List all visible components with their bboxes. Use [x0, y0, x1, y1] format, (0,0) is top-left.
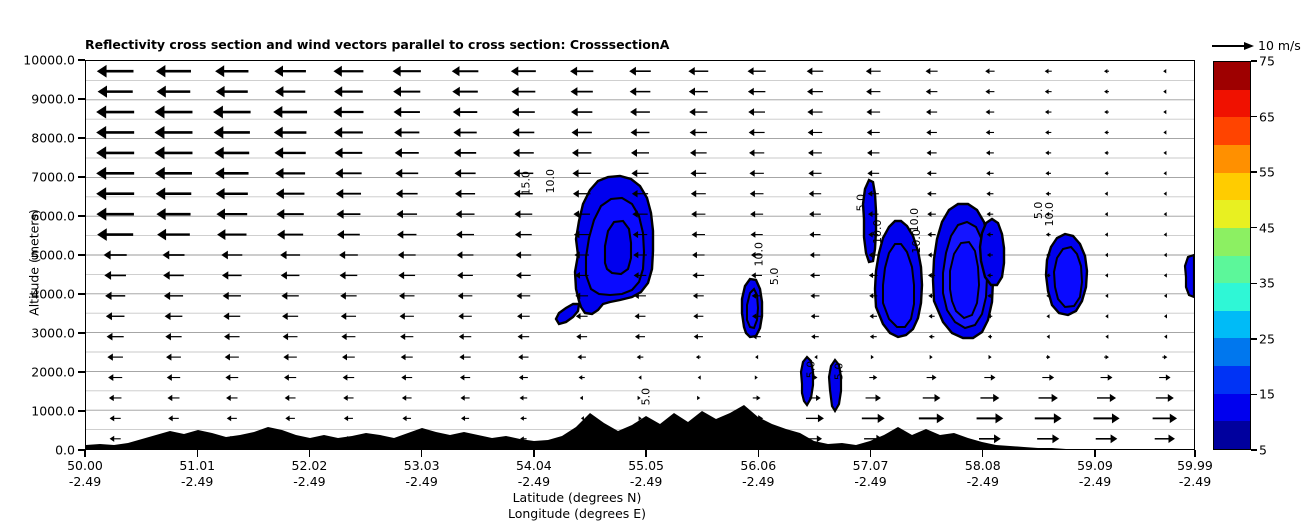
wind-vector-arrowhead	[757, 395, 761, 400]
wind-vector-arrowhead	[110, 436, 115, 442]
wind-vector-arrowhead	[986, 130, 990, 135]
wind-vector-arrowhead	[215, 65, 224, 77]
wind-vector-arrowhead	[276, 209, 284, 219]
wind-vector-arrowhead	[926, 68, 931, 74]
wind-vector-arrowhead	[1163, 89, 1166, 93]
wind-vector-arrowhead	[570, 67, 577, 76]
wind-vector-arrowhead	[398, 272, 404, 280]
wind-vector-arrowhead	[571, 108, 578, 117]
wind-vector-arrowhead	[104, 271, 111, 280]
wind-vector-arrowhead	[635, 313, 640, 319]
wind-vector-arrowhead	[988, 334, 991, 338]
y-axis-tick-mark	[78, 293, 85, 294]
wind-vector-arrowhead	[755, 355, 758, 359]
wind-vector-arrowhead	[213, 106, 223, 119]
wind-vector-arrowhead	[513, 149, 520, 158]
x-axis-tick-label: 55.05-2.49	[628, 458, 664, 490]
x-axis-tick-label-latitude: 56.06	[740, 458, 776, 474]
contour-label: 5.0	[855, 194, 868, 212]
wind-vector-arrowhead	[1164, 273, 1167, 277]
reference-wind-vector-icon	[1210, 38, 1256, 54]
colorbar-band	[1214, 366, 1250, 394]
wind-vector-arrowhead	[274, 147, 283, 158]
wind-vector-arrowhead	[457, 272, 463, 279]
wind-vector-arrowhead	[751, 231, 756, 237]
wind-vector-arrowhead	[1164, 192, 1167, 196]
wind-vector-arrowhead	[341, 333, 346, 340]
wind-vector-arrowhead	[96, 126, 106, 139]
wind-vector-arrowhead	[985, 89, 989, 95]
colorbar-band	[1214, 394, 1250, 422]
x-axis-tick-label-longitude: -2.49	[516, 474, 552, 490]
wind-vector-arrowhead	[994, 434, 1001, 443]
x-axis-tick-label-latitude: 53.03	[404, 458, 440, 474]
wind-vector-arrowhead	[749, 129, 755, 136]
wind-vector-arrowhead	[335, 168, 343, 178]
x-axis-tick-label-longitude: -2.49	[404, 474, 440, 490]
wind-vector-arrowhead	[400, 333, 405, 340]
wind-vector-arrowhead	[395, 148, 402, 157]
y-axis-tick-mark	[78, 410, 85, 411]
wind-vector-arrowhead	[873, 375, 877, 380]
wind-vector-arrowhead	[453, 128, 460, 137]
wind-vector-arrowhead	[1105, 192, 1108, 196]
wind-vector-arrowhead	[1105, 314, 1108, 318]
wind-vector-arrowhead	[692, 272, 697, 278]
x-axis-tick-label: 56.06-2.49	[740, 458, 776, 490]
wind-vector-arrowhead	[157, 229, 166, 241]
wind-vector-arrowhead	[1105, 232, 1108, 236]
wind-vector-arrowhead	[1166, 374, 1171, 380]
wind-vector-arrowhead	[928, 252, 932, 257]
wind-vector-arrowhead	[402, 416, 406, 421]
wind-vector-arrowhead	[1104, 89, 1107, 93]
wind-vector-arrowhead	[456, 231, 462, 239]
contour-label: 15.0	[520, 171, 533, 196]
wind-vector-arrowhead	[696, 355, 699, 359]
wind-vector-arrowhead	[572, 149, 578, 157]
wind-vector-arrowhead	[809, 232, 814, 238]
wind-vector-arrowhead	[334, 86, 342, 97]
wind-vector-arrowhead	[399, 292, 405, 299]
x-axis-tick-mark	[870, 450, 871, 457]
wind-vector-arrowhead	[340, 292, 346, 299]
y-axis-label: Altitude (meters)	[27, 173, 42, 353]
x-axis-tick-label: 59.99-2.49	[1177, 458, 1213, 490]
wind-vector-arrowhead	[1106, 355, 1109, 359]
wind-vector-arrowhead	[867, 129, 872, 136]
wind-vector-arrowhead	[154, 146, 164, 159]
wind-vector-arrowhead	[514, 210, 520, 218]
wind-vector-arrowhead	[333, 66, 341, 77]
wind-vector-arrowhead	[807, 88, 813, 95]
wind-vector-arrowhead	[629, 67, 636, 76]
wind-vector-arrowhead	[276, 188, 284, 199]
x-axis-tick-label-latitude: 51.01	[179, 458, 215, 474]
wind-vector-arrowhead	[214, 147, 223, 159]
wind-vector-arrowhead	[751, 272, 756, 278]
y-axis-tick-mark	[78, 215, 85, 216]
wind-vector-arrowhead	[167, 374, 172, 381]
wind-vector-arrowhead	[986, 191, 990, 196]
wind-vector-arrowhead	[1046, 314, 1049, 318]
wind-vector-arrowhead	[930, 355, 933, 359]
wind-vector-arrowhead	[635, 334, 639, 340]
wind-vector-arrowhead	[986, 150, 990, 155]
wind-vector-arrowhead	[281, 292, 287, 300]
wind-vector-arrowhead	[164, 292, 170, 300]
wind-vector-arrowhead	[810, 252, 814, 258]
colorbar-tick-mark	[1251, 394, 1257, 395]
x-axis-tick-label: 59.09-2.49	[1077, 458, 1113, 490]
wind-vector-arrowhead	[1104, 151, 1107, 155]
wind-vector-arrowhead	[571, 87, 578, 96]
wind-vector-arrowhead	[986, 171, 990, 176]
wind-vector-arrowhead	[1104, 130, 1107, 134]
wind-vector-arrowhead	[878, 414, 885, 423]
wind-vector-arrowhead	[816, 395, 821, 401]
x-axis-tick-label-latitude: 55.05	[628, 458, 664, 474]
colorbar-tick-label: 25	[1259, 331, 1275, 346]
wind-vector-arrowhead	[1105, 294, 1108, 298]
wind-vector-arrowhead	[1049, 374, 1054, 380]
wind-vector-arrowhead	[283, 354, 288, 361]
wind-vector-arrowhead	[637, 355, 641, 360]
x-axis-tick-label: 50.00-2.49	[67, 458, 103, 490]
contour-label: 10.0	[910, 229, 923, 254]
wind-vector-arrowhead	[97, 65, 107, 78]
wind-vector-arrowhead	[690, 129, 696, 137]
wind-vector-arrowhead	[107, 333, 113, 341]
wind-vector-arrowhead	[167, 395, 172, 401]
wind-vector-arrowhead	[96, 106, 106, 119]
wind-vector-arrowhead	[579, 375, 583, 380]
wind-vector-arrowhead	[110, 415, 115, 421]
x-axis-label-latitude: Latitude (degrees N)	[0, 490, 1229, 505]
wind-vector-arrowhead	[216, 86, 225, 98]
x-axis-tick-label-latitude: 59.09	[1077, 458, 1113, 474]
wind-vector-arrowhead	[341, 313, 346, 320]
wind-vector-arrowhead	[1047, 355, 1050, 359]
wind-vector-arrowhead	[1052, 394, 1058, 402]
wind-vector-arrowhead	[926, 109, 931, 115]
wind-vector-arrowhead	[453, 107, 460, 117]
wind-vector-arrowhead	[452, 66, 460, 76]
wind-vector-arrowhead	[222, 271, 228, 279]
wind-vector-arrowhead	[285, 395, 290, 401]
wind-vector-arrowhead	[811, 314, 815, 319]
colorbar-band	[1214, 62, 1250, 90]
x-axis-tick-label-latitude: 59.99	[1177, 458, 1213, 474]
x-axis-tick-mark	[421, 450, 422, 457]
colorbar-band	[1214, 200, 1250, 228]
wind-vector-arrowhead	[460, 395, 464, 401]
wind-vector-arrowhead	[520, 416, 524, 421]
wind-vector-arrowhead	[807, 108, 812, 115]
wind-vector-arrowhead	[818, 414, 824, 422]
wind-vector-arrowhead	[688, 67, 694, 75]
wind-vector-arrowhead	[459, 354, 464, 360]
wind-vector-arrowhead	[867, 150, 872, 156]
x-axis-tick-label-longitude: -2.49	[292, 474, 328, 490]
wind-vector-arrowhead	[1111, 434, 1118, 443]
wind-vector-arrowhead	[1045, 171, 1049, 176]
wind-vector-arrowhead	[398, 251, 404, 259]
wind-vector-arrowhead	[512, 107, 519, 116]
x-axis-tick-label: 53.03-2.49	[404, 458, 440, 490]
y-axis-tick-mark	[78, 332, 85, 333]
wind-vector-arrowhead	[1169, 435, 1175, 443]
x-axis-tick-mark	[982, 450, 983, 457]
contour-label: 5.0	[768, 268, 781, 286]
reference-wind-vector-label: 10 m/s	[1258, 38, 1301, 53]
colorbar-tick-mark	[1251, 116, 1257, 117]
wind-vector-arrowhead	[168, 415, 173, 421]
colorbar-tick-label: 75	[1259, 54, 1275, 69]
wind-vector-arrowhead	[283, 333, 288, 340]
colorbar-tick-label: 35	[1259, 276, 1275, 291]
wind-vector-arrowhead	[397, 230, 403, 238]
wind-vector-arrowhead	[460, 375, 464, 381]
wind-vector-arrowhead	[227, 415, 231, 421]
wind-vector-arrowhead	[630, 108, 636, 116]
wind-vector-arrowhead	[932, 375, 936, 381]
wind-vector-arrowhead	[995, 413, 1003, 423]
wind-vector-arrowhead	[1105, 253, 1108, 257]
wind-vector-arrowhead	[396, 210, 403, 219]
wind-vector-arrowhead	[692, 252, 697, 258]
wind-vector-arrowhead	[284, 374, 289, 380]
wind-vector-arrowhead	[1104, 110, 1107, 114]
wind-vector-arrowhead	[1163, 110, 1166, 114]
wind-vector-arrowhead	[1170, 414, 1177, 424]
wind-vector-arrowhead	[749, 170, 754, 177]
wind-vector-arrowhead	[518, 354, 522, 360]
wind-vector-arrowhead	[928, 273, 932, 278]
wind-vector-arrowhead	[986, 109, 990, 114]
wind-vector-arrowhead	[928, 232, 932, 237]
wind-vector-arrowhead	[1164, 355, 1167, 359]
y-axis-tick-label: 2000.0	[31, 365, 75, 380]
colorbar-band	[1214, 90, 1250, 118]
wind-vector-arrowhead	[817, 435, 822, 442]
x-axis-tick-label: 51.01-2.49	[179, 458, 215, 490]
wind-vector-arrowhead	[631, 128, 637, 136]
wind-vector-arrowhead	[573, 210, 579, 218]
wind-vector-arrowhead	[275, 86, 283, 97]
wind-vector-arrowhead	[162, 251, 169, 260]
colorbar-band	[1214, 256, 1250, 284]
wind-vector-arrowhead	[631, 149, 637, 157]
colorbar-band	[1214, 173, 1250, 201]
wind-vector-arrowhead	[516, 251, 522, 258]
wind-vector-arrowhead	[163, 271, 170, 280]
wind-vector-arrowhead	[511, 66, 518, 76]
wind-vector-arrowhead	[1105, 212, 1108, 216]
wind-vector-arrowhead	[285, 416, 289, 422]
y-axis-tick-mark	[78, 137, 85, 138]
wind-vector-arrowhead	[336, 209, 343, 218]
wind-vector-arrowhead	[1052, 434, 1059, 443]
wind-vector-arrowhead	[96, 146, 106, 159]
wind-vector-arrowhead	[929, 334, 933, 339]
wind-vector-arrowhead	[1110, 394, 1116, 402]
wind-vector-arrowhead	[344, 416, 348, 422]
wind-vector-arrowhead	[808, 149, 813, 156]
wind-vector-arrowhead	[394, 107, 402, 117]
wind-vector-arrowhead	[339, 251, 345, 259]
wind-vector-arrowhead	[993, 394, 999, 402]
y-axis-tick-mark	[78, 59, 85, 60]
wind-vector-arrowhead	[157, 86, 166, 98]
wind-vector-arrowhead	[1045, 130, 1049, 135]
wind-vector-arrowhead	[1105, 171, 1108, 175]
wind-vector-arrowhead	[1112, 413, 1120, 423]
wind-vector-arrowhead	[402, 395, 406, 401]
wind-vector-arrowhead	[105, 292, 111, 300]
wind-vector-arrowhead	[1045, 110, 1049, 115]
wind-vector-arrowhead	[216, 209, 225, 220]
wind-vector-arrowhead	[518, 334, 523, 340]
x-axis-tick-mark	[1094, 450, 1095, 457]
wind-vector-arrowhead	[927, 150, 931, 156]
x-axis-tick-label-longitude: -2.49	[67, 474, 103, 490]
wind-vector-arrowhead	[273, 106, 282, 118]
wind-vector-arrowhead	[337, 230, 344, 239]
wind-vector-arrowhead	[926, 89, 931, 95]
wind-vector-arrowhead	[454, 169, 461, 178]
wind-vector-arrowhead	[1045, 69, 1049, 74]
wind-vector-arrowhead	[280, 251, 286, 259]
wind-vector-arrowhead	[690, 170, 696, 177]
wind-vector-arrowhead	[1045, 89, 1049, 94]
y-axis-tick-mark	[78, 98, 85, 99]
wind-vector-arrowhead	[689, 108, 695, 116]
wind-vector-arrowhead	[274, 65, 283, 76]
wind-vector-arrowhead	[107, 353, 113, 360]
wind-vector-arrowhead	[456, 210, 462, 218]
wind-vector-arrowhead	[1046, 232, 1049, 236]
wind-vector-arrowhead	[333, 107, 341, 118]
plot-area: 15.010.010.05.05.010.010.010.05.010.05.0…	[85, 60, 1195, 450]
x-axis-tick-mark	[758, 450, 759, 457]
terrain-silhouette	[86, 405, 1194, 449]
wind-vector-arrowhead	[156, 65, 165, 77]
colorbar-band	[1214, 421, 1250, 449]
wind-vector-arrowhead	[156, 208, 165, 220]
title-line-1: Reflectivity cross section and wind vect…	[85, 37, 669, 53]
wind-vector-arrowhead	[1164, 294, 1167, 298]
wind-vector-arrowhead	[461, 416, 465, 421]
wind-vector-arrowhead	[224, 333, 230, 340]
wind-vector-arrowhead	[457, 251, 463, 259]
x-axis-tick-label: 54.04-2.49	[516, 458, 552, 490]
x-axis-tick-mark	[84, 450, 85, 457]
x-axis-tick-label-latitude: 54.04	[516, 458, 552, 474]
wind-vector-arrowhead	[342, 354, 347, 361]
wind-vector-arrowhead	[750, 190, 755, 197]
wind-vector-arrowhead	[927, 170, 931, 176]
wind-vector-arrowhead	[690, 149, 696, 157]
colorbar-band	[1214, 145, 1250, 173]
colorbar-band	[1214, 283, 1250, 311]
wind-vector-arrowhead	[340, 272, 346, 280]
colorbar-tick-label: 65	[1259, 109, 1275, 124]
wind-vector-arrowhead	[335, 148, 343, 158]
x-axis-tick-mark	[533, 450, 534, 457]
wind-vector-arrowhead	[1047, 334, 1050, 338]
wind-vector-arrowhead	[572, 169, 578, 177]
wind-vector-arrowhead	[1164, 212, 1167, 216]
wind-vector-arrowhead	[691, 190, 696, 197]
y-axis-tick-label: 8000.0	[31, 131, 75, 146]
wind-vector-arrowhead	[1168, 394, 1174, 402]
wind-vector-arrowhead	[1105, 273, 1108, 277]
wind-vector-arrowhead	[1046, 191, 1049, 196]
wind-vector-arrowhead	[991, 374, 996, 380]
colorbar-tick-mark	[1251, 227, 1257, 228]
wind-vector-arrowhead	[223, 292, 229, 300]
colorbar[interactable]	[1213, 61, 1251, 450]
contour-label: 5.0	[639, 388, 652, 406]
wind-vector-arrowhead	[869, 273, 873, 278]
wind-vector-arrowhead	[154, 126, 164, 139]
wind-vector-arrowhead	[517, 313, 522, 319]
wind-vector-arrowhead	[638, 375, 641, 379]
wind-vector-arrowhead	[520, 395, 524, 400]
wind-vector-arrowhead	[334, 127, 342, 138]
x-axis-tick-label: 52.02-2.49	[292, 458, 328, 490]
wind-vector-arrowhead	[814, 355, 817, 359]
colorbar-tick-label: 15	[1259, 387, 1275, 402]
plot-canvas: 15.010.010.05.05.010.010.010.05.010.05.0…	[86, 61, 1194, 449]
contour-label: 10.0	[544, 169, 557, 194]
wind-vector-arrowhead	[926, 129, 931, 135]
wind-vector-arrowhead	[96, 208, 106, 221]
colorbar-tick-mark	[1251, 60, 1257, 61]
wind-vector-arrowhead	[808, 170, 813, 177]
y-axis-tick-label: 0.0	[55, 443, 75, 458]
wind-vector-arrowhead	[576, 334, 581, 340]
wind-vector-arrowhead	[281, 271, 287, 279]
wind-vector-arrowhead	[866, 109, 871, 116]
wind-vector-arrowhead	[97, 228, 107, 241]
wind-vector-arrowhead	[401, 375, 406, 381]
y-axis-tick-label: 10000.0	[23, 53, 75, 68]
wind-vector-arrowhead	[214, 126, 224, 139]
contour-label: 5.0	[805, 361, 818, 379]
wind-vector-arrowhead	[689, 88, 695, 96]
wind-vector-arrowhead	[98, 85, 107, 97]
x-axis-tick-mark	[645, 450, 646, 457]
wind-vector-arrowhead	[165, 333, 171, 340]
wind-vector-arrowhead	[277, 230, 285, 240]
wind-vector-arrowhead	[519, 375, 523, 381]
x-axis-tick-label-longitude: -2.49	[628, 474, 664, 490]
wind-vector-arrowhead	[343, 395, 347, 401]
x-axis-tick-label-longitude: -2.49	[1177, 474, 1213, 490]
wind-vector-arrowhead	[400, 313, 405, 320]
wind-vector-arrowhead	[937, 413, 944, 423]
wind-vector-arrowhead	[1164, 314, 1167, 318]
colorbar-band	[1214, 338, 1250, 366]
wind-vector-arrowhead	[395, 169, 402, 178]
wind-vector-arrowhead	[875, 394, 880, 401]
wind-vector-arrowhead	[96, 167, 106, 180]
wind-vector-arrowhead	[393, 87, 401, 97]
wind-vector-arrowhead	[1054, 413, 1062, 423]
wind-vector-arrowhead	[1163, 151, 1166, 155]
